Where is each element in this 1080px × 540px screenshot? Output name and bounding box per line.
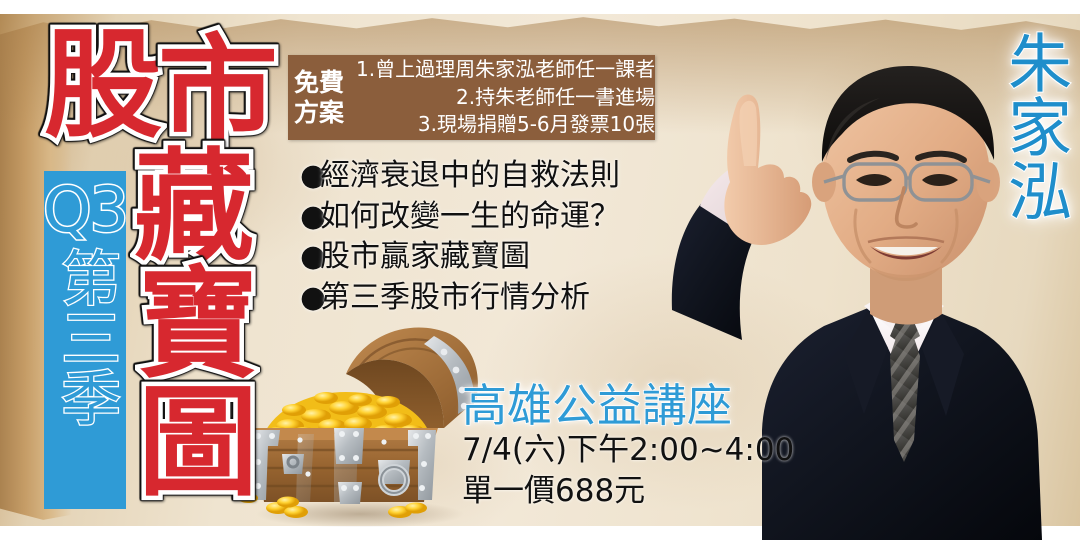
free-plan-item: 3.現場捐贈5-6月發票10張 [356, 111, 655, 139]
list-item: ●第三季股市行情分析 [300, 280, 620, 317]
list-item-label: 經濟衰退中的自救法則 [320, 158, 620, 193]
speaker-name: 朱家泓 [1001, 30, 1066, 222]
free-plan-label-line1: 免費 [294, 68, 356, 98]
event-datetime: 7/4(六)下午2:00~4:00 [462, 432, 794, 470]
list-item-label: 股市贏家藏寶圖 [320, 239, 530, 274]
bullet-icon: ● [300, 280, 320, 317]
event-price: 單一價688元 [462, 473, 794, 511]
poster-title: 股 市 藏 寶 圖 [38, 8, 278, 528]
event-title: 高雄公益講座 [462, 382, 794, 429]
list-item: ●經濟衰退中的自救法則 [300, 158, 620, 195]
bullet-icon: ● [300, 239, 320, 276]
title-char-3: 藏 [134, 148, 254, 268]
list-item-label: 如何改變一生的命運？ [320, 199, 620, 234]
free-plan-item: 2.持朱老師任一書進場 [356, 84, 655, 112]
list-item: ●如何改變一生的命運？ [300, 199, 620, 236]
list-item: ●股市贏家藏寶圖 [300, 239, 620, 276]
title-char-5: 圖 [138, 384, 258, 504]
title-char-2: 市 [158, 34, 278, 154]
title-char-4: 寶 [138, 266, 258, 386]
free-plan-label-line2: 方案 [294, 98, 356, 128]
bullet-icon: ● [300, 158, 320, 195]
event-info: 高雄公益講座 7/4(六)下午2:00~4:00 單一價688元 [462, 382, 794, 511]
free-plan-item: 1.曾上過理周朱家泓老師任一課者 [356, 56, 655, 84]
free-plan-box: 免費 方案 1.曾上過理周朱家泓老師任一課者 2.持朱老師任一書進場 3.現場捐… [288, 55, 655, 140]
title-char-1: 股 [44, 26, 162, 144]
list-item-label: 第三季股市行情分析 [320, 280, 590, 315]
topic-list: ●經濟衰退中的自救法則 ●如何改變一生的命運？ ●股市贏家藏寶圖 ●第三季股市行… [300, 158, 620, 320]
free-plan-label: 免費 方案 [294, 68, 356, 127]
bullet-icon: ● [300, 199, 320, 236]
promo-poster: 股 市 藏 寶 圖 Q3 第三季 免費 方案 1.曾上過理周朱家泓老師任一課者 … [0, 0, 1080, 540]
free-plan-items: 1.曾上過理周朱家泓老師任一課者 2.持朱老師任一書進場 3.現場捐贈5-6月發… [356, 56, 655, 139]
